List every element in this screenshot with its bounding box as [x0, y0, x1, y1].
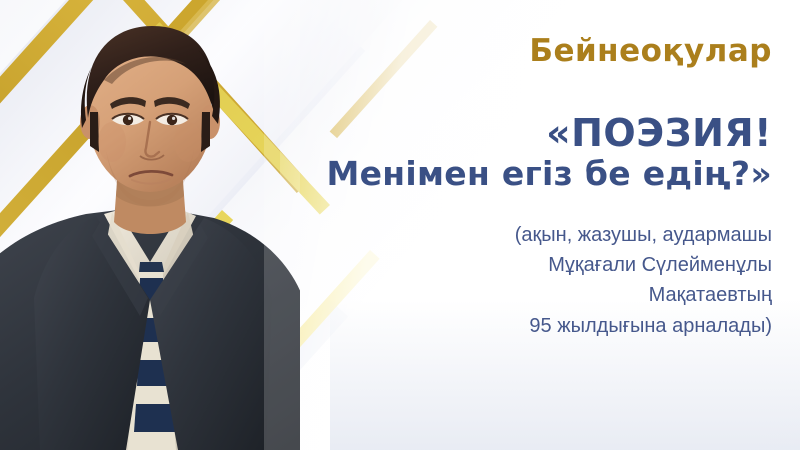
headline-line-2: Менімен егіз бе едің?»: [252, 156, 772, 192]
kicker-label: Бейнеоқулар: [252, 36, 772, 67]
subtitle-line-4: 95 жылдығына арналады): [252, 311, 772, 341]
page-title: «ПОЭЗИЯ! Менімен егіз бе едің?»: [252, 113, 772, 192]
subtitle-block: (ақын, жазушы, аудармашы Мұқағали Сүлейм…: [252, 220, 772, 342]
subtitle-line-1: (ақын, жазушы, аудармашы: [252, 220, 772, 250]
text-content: Бейнеоқулар «ПОЭЗИЯ! Менімен егіз бе еді…: [252, 0, 772, 341]
subtitle-line-3: Мақатаевтың: [252, 280, 772, 310]
poster-canvas: Бейнеоқулар «ПОЭЗИЯ! Менімен егіз бе еді…: [0, 0, 800, 450]
headline-line-1: «ПОЭЗИЯ!: [252, 113, 772, 154]
subtitle-line-2: Мұқағали Сүлейменұлы: [252, 250, 772, 280]
